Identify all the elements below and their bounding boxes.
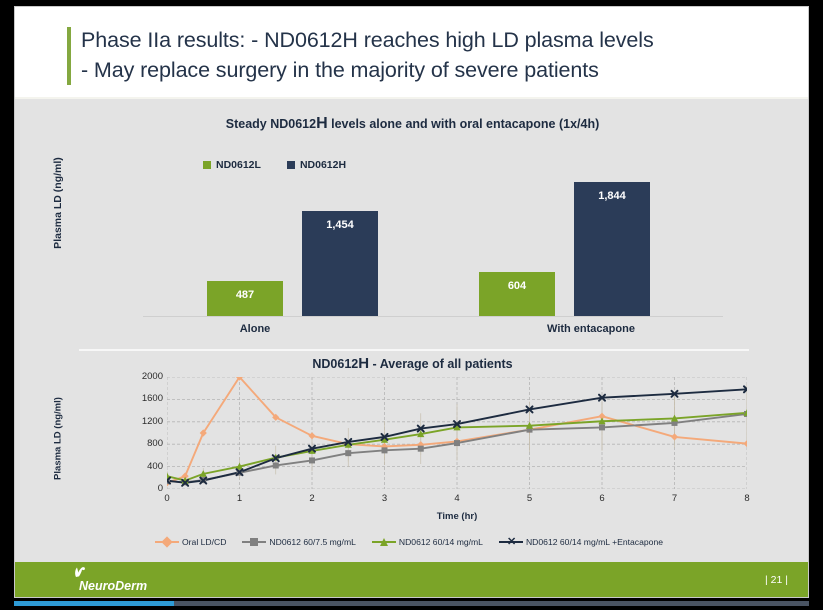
y-tick-label: 2000 [123, 371, 163, 382]
bar-category-with-entacapone: With entacapone [501, 323, 681, 335]
bar-title-prefix: Steady ND0612 [226, 117, 316, 131]
legend-label: Oral LD/CD [182, 537, 226, 547]
slide-viewer-frame: Phase IIa results: - ND0612H reaches hig… [0, 0, 823, 610]
x-tick-label: 8 [732, 493, 762, 504]
line-title-suffix: - Average of all patients [369, 357, 513, 371]
slide-canvas: Phase IIa results: - ND0612H reaches hig… [14, 6, 809, 598]
line-title-prefix: ND0612 [312, 357, 358, 371]
title-accent-bar [67, 27, 71, 85]
bar-alone-nd0612l: 487 [207, 281, 283, 316]
page-number: | 21 | [765, 574, 788, 586]
bar-chart-y-axis-label: Plasma LD (ng/ml) [52, 128, 64, 278]
x-tick-label: 1 [225, 493, 255, 504]
line-chart-legend: Oral LD/CDND0612 60/7.5 mg/mLND0612 60/1… [155, 537, 775, 547]
x-tick-label: 5 [515, 493, 545, 504]
bar-chart-title: Steady ND0612H levels alone and with ora… [15, 115, 809, 133]
legend-item-diamond: Oral LD/CD [155, 537, 226, 547]
bar-value-label: 1,844 [598, 190, 626, 202]
x-tick-label: 6 [587, 493, 617, 504]
legend-label: ND0612 60/7.5 mg/mL [269, 537, 355, 547]
legend-marker-diamond-icon [155, 537, 179, 547]
line-title-big: H [358, 355, 369, 372]
line-chart-plot-area [167, 377, 747, 489]
bar-value-label: 487 [236, 289, 254, 301]
line-chart-title: ND0612H - Average of all patients [15, 355, 809, 372]
bar-title-suffix: levels alone and with oral entacapone (1… [328, 117, 600, 131]
slide-body: Steady ND0612H levels alone and with ora… [15, 97, 809, 562]
y-tick-label: 800 [123, 438, 163, 449]
bar-chart-baseline [143, 316, 723, 317]
bar-value-label: 604 [508, 280, 526, 292]
legend-marker-square-icon [242, 537, 266, 547]
slide-title-band: Phase IIa results: - ND0612H reaches hig… [15, 7, 809, 97]
bar-value-label: 1,454 [326, 219, 354, 231]
chart-separator [79, 349, 749, 351]
legend-item-x: ✕ND0612 60/14 mg/mL +Entacapone [499, 537, 663, 547]
y-tick-label: 400 [123, 461, 163, 472]
y-tick-label: 1600 [123, 393, 163, 404]
legend-label-nd0612l: ND0612L [216, 159, 261, 171]
line-chart: ND0612H - Average of all patients Plasma… [15, 355, 809, 564]
page-title: Phase IIa results: - ND0612H reaches hig… [81, 25, 781, 85]
line-chart-x-ticks: 012345678 [167, 493, 747, 509]
slide-footer: NeuroDerm | 21 | [15, 562, 809, 598]
scrollbar-thumb[interactable] [14, 601, 174, 606]
brand-name: NeuroDerm [79, 579, 147, 593]
legend-swatch-green [203, 161, 211, 169]
bar-entacapone-nd0612l: 604 [479, 272, 555, 316]
bar-title-big: H [316, 115, 328, 132]
legend-swatch-navy [287, 161, 295, 169]
y-tick-label: 1200 [123, 416, 163, 427]
bar-chart-category-labels: Alone With entacapone [143, 323, 723, 343]
bar-entacapone-nd0612h: 1,844 [574, 182, 650, 316]
bar-chart-plot-area: 487 1,454 604 1,844 [143, 171, 723, 316]
bar-category-alone: Alone [165, 323, 345, 335]
legend-label: ND0612 60/14 mg/mL [399, 537, 483, 547]
legend-marker-x-icon: ✕ [499, 537, 523, 547]
legend-item-square: ND0612 60/7.5 mg/mL [242, 537, 355, 547]
x-tick-label: 3 [370, 493, 400, 504]
x-tick-label: 2 [297, 493, 327, 504]
legend-marker-triangle-icon [372, 537, 396, 547]
legend-item-nd0612h: ND0612H [287, 159, 346, 171]
line-chart-y-ticks: 0400800120016002000 [119, 377, 163, 489]
x-tick-label: 4 [442, 493, 472, 504]
neuroderm-mark-icon [73, 566, 87, 580]
bar-chart-legend: ND0612L ND0612H [203, 159, 346, 171]
scrollbar-track[interactable] [14, 601, 809, 606]
bar-alone-nd0612h: 1,454 [302, 211, 378, 316]
x-tick-label: 0 [152, 493, 182, 504]
x-tick-label: 7 [660, 493, 690, 504]
bar-chart: Steady ND0612H levels alone and with ora… [15, 99, 809, 347]
line-chart-y-axis-label: Plasma LD (ng/ml) [53, 374, 64, 504]
legend-label-nd0612h: ND0612H [300, 159, 346, 171]
line-chart-x-axis-label: Time (hr) [167, 511, 747, 522]
legend-item-triangle: ND0612 60/14 mg/mL [372, 537, 483, 547]
legend-label: ND0612 60/14 mg/mL +Entacapone [526, 537, 663, 547]
legend-item-nd0612l: ND0612L [203, 159, 261, 171]
